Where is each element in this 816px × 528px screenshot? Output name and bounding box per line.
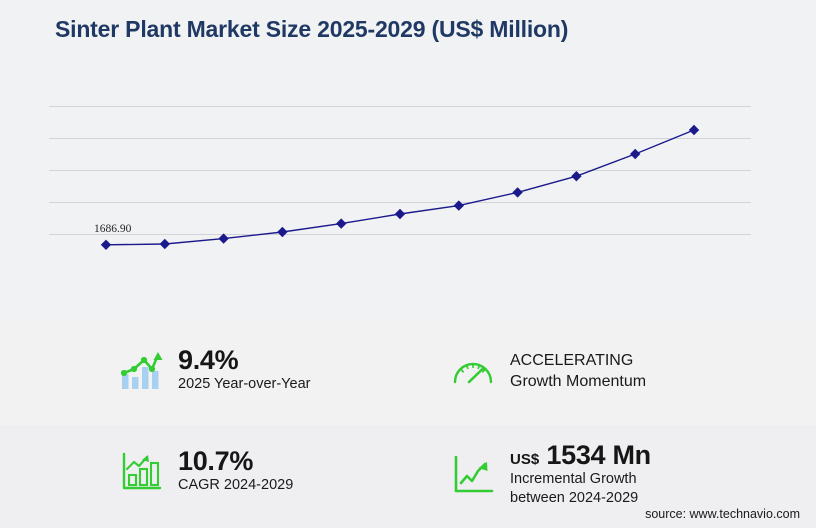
stat-value: ACCELERATING bbox=[510, 350, 646, 371]
stat-caption: Growth Momentum bbox=[510, 371, 646, 392]
data-point-2025 bbox=[454, 200, 464, 210]
series-line bbox=[49, 106, 751, 262]
stat-incremental-growth: US$ 1534 Mn Incremental Growth between 2… bbox=[450, 441, 651, 509]
line-chart-arrow-icon bbox=[450, 452, 496, 498]
stat-amount: 1534 Mn bbox=[546, 440, 650, 470]
data-point-2023 bbox=[336, 218, 346, 228]
stat-value: 10.7% bbox=[178, 447, 293, 476]
stat-caption-line1: Incremental Growth bbox=[510, 470, 651, 489]
data-point-2019 bbox=[101, 240, 111, 250]
bar-chart-arrow-icon bbox=[118, 448, 164, 494]
stat-value: 9.4% bbox=[178, 346, 310, 375]
stat-caption-line2: between 2024-2029 bbox=[510, 489, 651, 508]
stat-caption: 2025 Year-over-Year bbox=[178, 375, 310, 394]
chart-plot-area: 1686.90 bbox=[49, 106, 751, 262]
source-attribution: source: www.technavio.com bbox=[645, 507, 800, 521]
data-point-2027 bbox=[571, 171, 581, 181]
stat-cagr: 10.7% CAGR 2024-2029 bbox=[118, 447, 293, 495]
data-point-2020 bbox=[160, 239, 170, 249]
data-point-2026 bbox=[512, 187, 522, 197]
series-polyline bbox=[106, 130, 694, 245]
data-point-2024 bbox=[395, 209, 405, 219]
stat-value: US$ 1534 Mn bbox=[510, 441, 651, 470]
stat-growth-momentum: ACCELERATING Growth Momentum bbox=[450, 348, 646, 394]
bar-chart-trend-up-icon bbox=[118, 347, 164, 393]
stat-caption: CAGR 2024-2029 bbox=[178, 476, 293, 495]
first-point-data-label: 1686.90 bbox=[94, 223, 131, 235]
stat-unit: US$ bbox=[510, 451, 539, 468]
data-point-2021 bbox=[218, 233, 228, 243]
data-point-2029 bbox=[689, 125, 699, 135]
stat-year-over-year: 9.4% 2025 Year-over-Year bbox=[118, 346, 310, 394]
data-point-2022 bbox=[277, 227, 287, 237]
page-title: Sinter Plant Market Size 2025-2029 (US$ … bbox=[55, 16, 568, 43]
line-chart: 1686.90 20192020202120222023202420252026… bbox=[0, 86, 816, 286]
data-point-2028 bbox=[630, 149, 640, 159]
speedometer-icon bbox=[450, 348, 496, 394]
series-markers bbox=[101, 125, 699, 250]
chart-infographic: Sinter Plant Market Size 2025-2029 (US$ … bbox=[0, 0, 816, 528]
